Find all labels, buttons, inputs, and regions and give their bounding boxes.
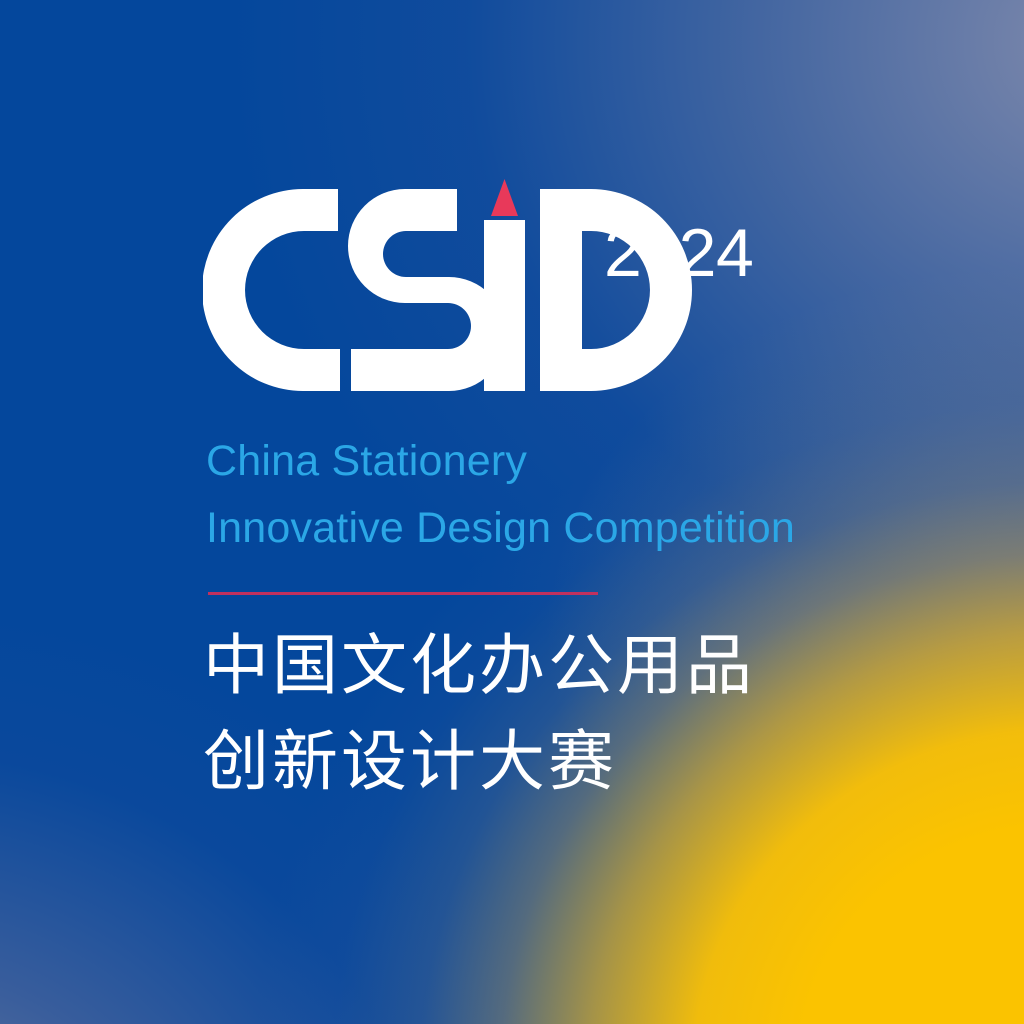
logo-year: 2024 [604,219,753,287]
subtitle-line-1: China Stationery [206,428,946,495]
subtitle-line-2: Innovative Design Competition [206,495,946,562]
pencil-tip-triangle [491,179,518,216]
divider-rule [208,592,598,595]
chinese-title-line-1: 中国文化办公用品 [203,618,755,714]
logo-letter-i-pencil [484,179,525,391]
chinese-title: 中国文化办公用品 创新设计大赛 [203,618,755,809]
logo-letter-c [203,189,340,391]
pencil-body [484,220,525,391]
english-subtitle: China Stationery Innovative Design Compe… [206,428,946,561]
poster-content: 2024 China Stationery Innovative Design … [203,0,963,1024]
chinese-title-line-2: 创新设计大赛 [203,714,755,810]
logo-letter-s [348,189,506,391]
poster-canvas: 2024 China Stationery Innovative Design … [0,0,1024,1024]
